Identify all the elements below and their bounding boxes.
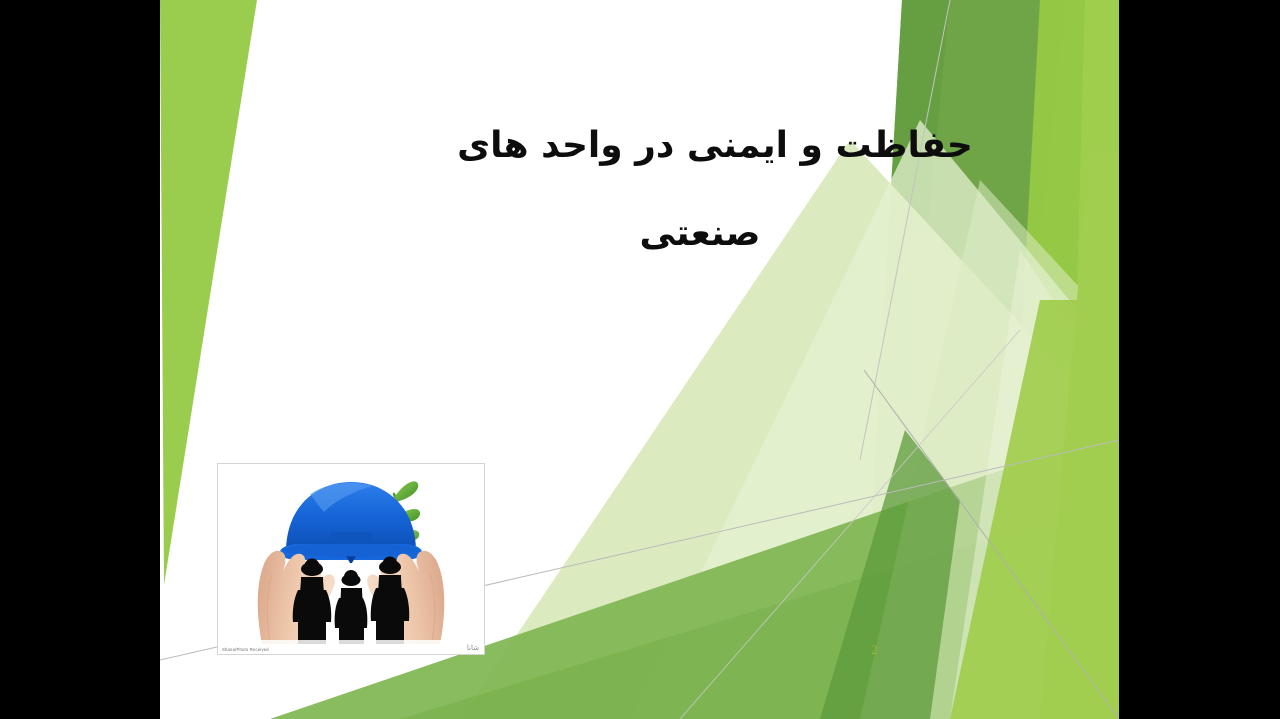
- letterbox-right: [1119, 0, 1280, 719]
- slide-title-line-2: صنعتی: [340, 216, 1090, 252]
- slide-canvas: حفاظت و ایمنی در واحد های صنعتی: [160, 0, 1119, 719]
- safety-helmet-illustration: [218, 464, 484, 654]
- letterbox-left: [0, 0, 160, 719]
- page-number: 2: [871, 642, 878, 658]
- picture-signature: شانا: [467, 644, 479, 652]
- slide-title: حفاظت و ایمنی در واحد های صنعتی: [340, 128, 1090, 252]
- picture-watermark-caption: Shana/Photo Received: [222, 647, 269, 652]
- safety-helmet-picture[interactable]: Shana/Photo Received شانا: [217, 463, 485, 655]
- slide-title-line-1: حفاظت و ایمنی در واحد های: [340, 128, 1090, 164]
